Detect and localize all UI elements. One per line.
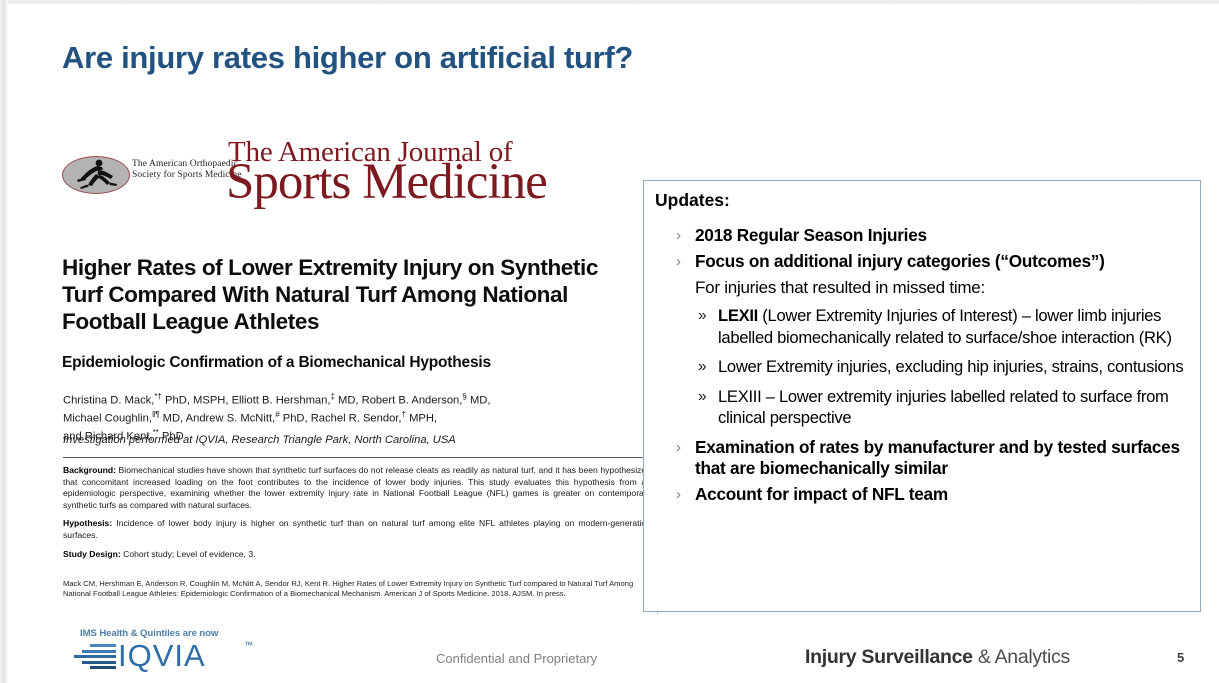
list-item-label: Account for impact of NFL team <box>695 484 948 504</box>
list-item-label: Focus on additional injury categories (“… <box>695 251 1105 271</box>
iqvia-logo: IMS Health & Quintiles are now IQVIA ™ <box>74 628 304 678</box>
chevron-right-icon: › <box>676 251 681 272</box>
author-line-2: Michael Coughlin,‖¶ MD, Andrew S. McNitt… <box>63 408 648 426</box>
article-citation: Mack CM, Hershman E, Anderson R, Coughli… <box>63 579 649 600</box>
chevron-right-icon: › <box>676 437 681 458</box>
list-item: › Account for impact of NFL team <box>655 484 1195 505</box>
journal-name-line2: Sports Medicine <box>226 154 547 210</box>
list-item: » LEXII (Lower Extremity Injuries of Int… <box>655 305 1195 348</box>
list-item-label: (Lower Extremity Injuries of Interest) –… <box>718 306 1172 347</box>
chevron-right-icon: › <box>676 225 681 246</box>
aossm-logo-icon <box>62 154 132 194</box>
list-item: » LEXIII – Lower extremity injuries labe… <box>655 386 1195 429</box>
journal-masthead: The American Orthopaedic Society for Spo… <box>58 132 654 210</box>
list-item: › 2018 Regular Season Injuries <box>655 225 1195 246</box>
double-chevron-icon: » <box>698 356 706 378</box>
capture-edge-left <box>0 0 8 683</box>
article-title: Higher Rates of Lower Extremity Injury o… <box>62 254 642 335</box>
article-abstract: Background: Biomechanical studies have s… <box>63 465 651 567</box>
article-subtitle: Epidemiologic Confirmation of a Biomecha… <box>62 354 642 372</box>
iqvia-bars-icon <box>74 644 116 672</box>
slide: Are injury rates higher on artificial tu… <box>0 0 1219 683</box>
page-number: 5 <box>1177 650 1184 665</box>
list-item-label: 2018 Regular Season Injuries <box>695 225 927 245</box>
double-chevron-icon: » <box>698 386 706 408</box>
abstract-divider <box>63 457 649 458</box>
updates-heading: Updates: <box>655 190 730 211</box>
article-affiliation: Investigation performed at IQVIA, Resear… <box>63 434 648 446</box>
confidentiality-notice: Confidential and Proprietary <box>436 651 597 666</box>
brand-footer: Injury Surveillance & Analytics <box>805 646 1070 669</box>
updates-bullet-list: › 2018 Regular Season Injuries › Focus o… <box>655 225 1195 510</box>
list-item: › Focus on additional injury categories … <box>655 251 1195 272</box>
brand-footer-regular: & Analytics <box>973 646 1070 668</box>
trademark-icon: ™ <box>244 640 253 650</box>
brand-footer-bold: Injury Surveillance <box>805 646 973 668</box>
list-item-label: Lower Extremity injuries, excluding hip … <box>718 357 1183 376</box>
list-item-bold-prefix: LEXII <box>718 306 758 325</box>
list-item-plain: For injuries that resulted in missed tim… <box>655 277 1195 298</box>
author-line-1: Christina D. Mack,*† PhD, MSPH, Elliott … <box>63 390 648 408</box>
list-item-label: LEXIII – Lower extremity injuries labell… <box>718 387 1169 428</box>
list-item: › Examination of rates by manufacturer a… <box>655 437 1195 479</box>
iqvia-wordmark: IQVIA <box>118 638 206 674</box>
running-athlete-icon <box>68 158 122 190</box>
abstract-background: Background: Biomechanical studies have s… <box>63 465 651 511</box>
list-item-label: Examination of rates by manufacturer and… <box>695 437 1180 478</box>
abstract-study-design: Study Design: Cohort study; Level of evi… <box>63 549 651 561</box>
double-chevron-icon: » <box>698 305 706 327</box>
abstract-hypothesis: Hypothesis: Incidence of lower body inju… <box>63 518 651 541</box>
list-item: » Lower Extremity injuries, excluding hi… <box>655 356 1195 378</box>
updates-panel: Updates: › 2018 Regular Season Injuries … <box>643 180 1201 612</box>
chevron-right-icon: › <box>676 484 681 505</box>
capture-edge-top <box>0 0 1219 5</box>
journal-article-image: The American Orthopaedic Society for Spo… <box>58 132 654 618</box>
page-title: Are injury rates higher on artificial tu… <box>62 40 633 76</box>
